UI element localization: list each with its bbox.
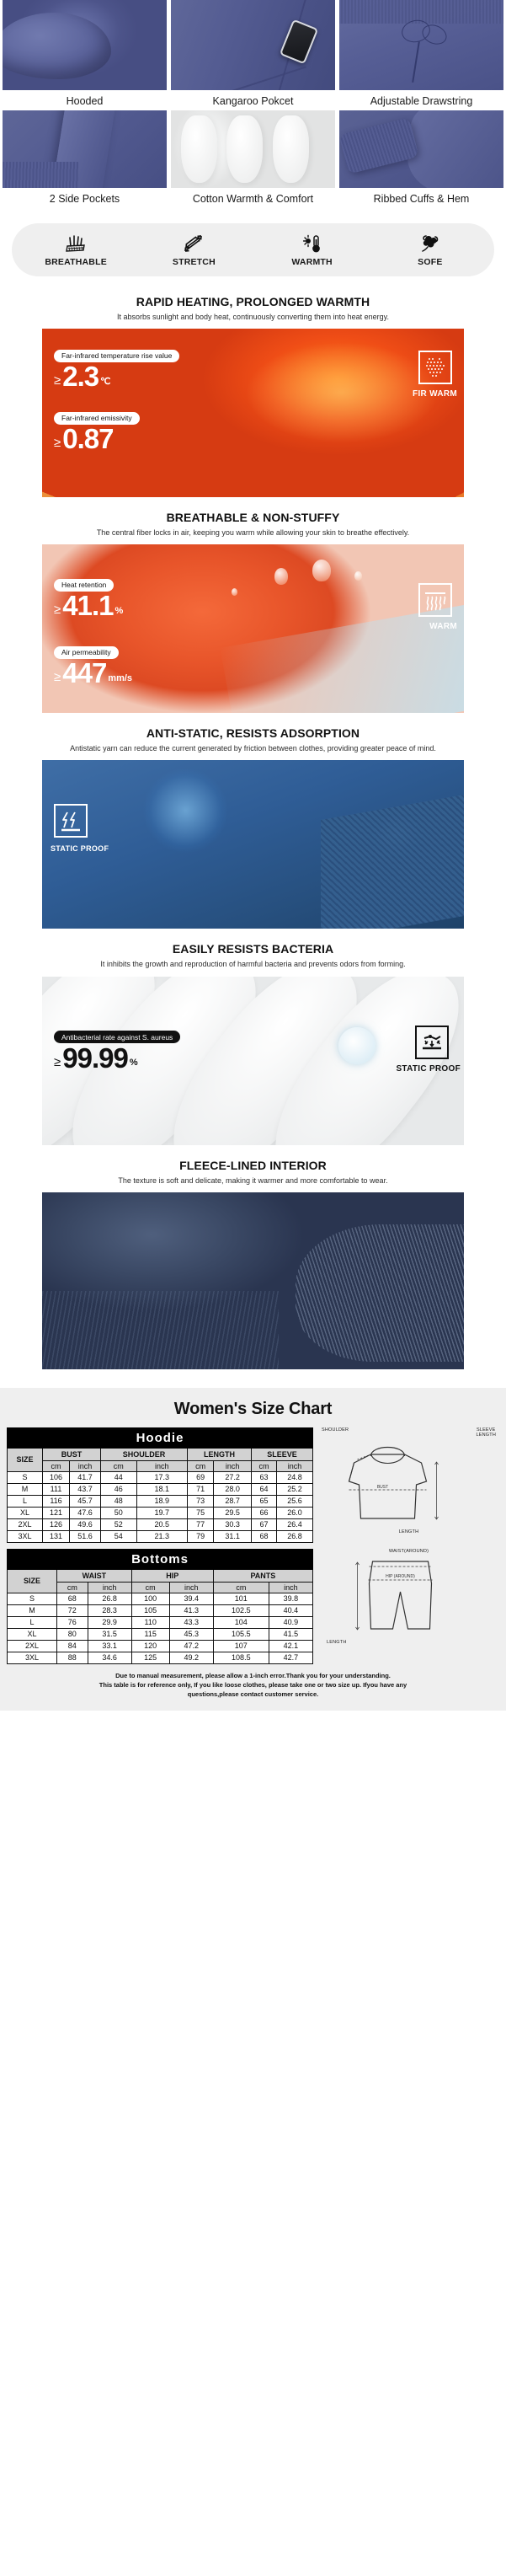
gte-symbol: ≥	[54, 375, 61, 389]
stat-label: Antibacterial rate against S. aureus	[54, 1031, 180, 1043]
unit-header: inch	[70, 1460, 101, 1471]
fleece-interior-photo	[42, 1192, 464, 1369]
cell: 42.7	[269, 1652, 312, 1663]
cotton-fleece-photo	[171, 110, 335, 188]
table-row: M 72 28.3 105 41.3 102.5 40.4	[8, 1604, 313, 1616]
feature-caption: Adjustable Drawstring	[339, 90, 503, 110]
unit-header: inch	[169, 1582, 213, 1593]
unit-header: cm	[101, 1460, 136, 1471]
figure-label-length: LENGTH	[399, 1529, 419, 1534]
cell: 77	[188, 1518, 214, 1530]
section-fleece-lined: FLEECE-LINED INTERIOR The texture is sof…	[0, 1145, 506, 1369]
badge-warmth: WARMTH	[253, 233, 371, 267]
bottoms-chart-row: Bottoms SIZE WAIST HIP PANTS cm inch cm …	[0, 1549, 506, 1664]
cotton-boll-icon	[371, 233, 489, 254]
size-column-header: SIZE	[8, 1569, 57, 1593]
gte-symbol: ≥	[54, 437, 61, 452]
row-size: 3XL	[8, 1530, 43, 1542]
row-size: 3XL	[8, 1652, 57, 1663]
cell: 76	[57, 1616, 88, 1628]
cell: 66	[251, 1507, 276, 1518]
cell: 49.6	[70, 1518, 101, 1530]
bottoms-measurement-figure: WAIST(AROUND) HIP (AROUND) LENGTH	[318, 1549, 499, 1645]
group-header-sleeve: SLEEVE	[251, 1448, 312, 1460]
table-row: L 116 45.7 48 18.9 73 28.7 65 25.6	[8, 1495, 313, 1507]
cell: 63	[251, 1471, 276, 1483]
side-pocket-photo	[3, 110, 167, 188]
hoodie-measurement-figure: SHOULDER SLEEVE LENGTH BUST LENGTH	[318, 1427, 499, 1534]
stat-unit: mm/s	[108, 675, 132, 686]
cell: 28.7	[214, 1495, 252, 1507]
cell: 107	[213, 1640, 269, 1652]
cell: 72	[57, 1604, 88, 1616]
cell: 18.1	[136, 1483, 188, 1495]
cell: 49.2	[169, 1652, 213, 1663]
feature-cell-hooded[interactable]: Hooded	[3, 0, 167, 110]
cell: 111	[43, 1483, 70, 1495]
disclaimer-line-2: This table is for reference only, If you…	[22, 1680, 484, 1690]
cell: 26.8	[88, 1593, 131, 1604]
cell: 41.3	[169, 1604, 213, 1616]
feature-cell-drawstring[interactable]: Adjustable Drawstring	[339, 0, 503, 110]
cell: 125	[131, 1652, 169, 1663]
measurement-disclaimer: Due to manual measurement, please allow …	[0, 1664, 506, 1701]
feature-photo-row-2: 2 Side Pockets Cotton Warmth & Comfort R…	[0, 110, 506, 208]
pants-diagram-icon: HIP (AROUND)	[318, 1555, 499, 1636]
unit-header: cm	[43, 1460, 70, 1471]
hood-closeup-photo	[3, 0, 167, 90]
cell: 30.3	[214, 1518, 252, 1530]
cell: 29.9	[88, 1616, 131, 1628]
figure-label-length: LENGTH	[327, 1640, 347, 1645]
group-header-length: LENGTH	[188, 1448, 252, 1460]
cell: 29.5	[214, 1507, 252, 1518]
cell: 64	[251, 1483, 276, 1495]
badge-label: STRETCH	[135, 257, 253, 267]
bottoms-table-wrap: Bottoms SIZE WAIST HIP PANTS cm inch cm …	[7, 1549, 313, 1664]
unit-header: inch	[277, 1460, 313, 1471]
svg-text:BUST: BUST	[377, 1485, 388, 1490]
cell: 110	[131, 1616, 169, 1628]
heat-waves-icon	[418, 583, 452, 617]
cell: 48	[101, 1495, 136, 1507]
anti-static-discharge-icon	[415, 1026, 449, 1059]
table-row: L 76 29.9 110 43.3 104 40.9	[8, 1616, 313, 1628]
cell: 47.6	[70, 1507, 101, 1518]
cell: 65	[251, 1495, 276, 1507]
stat-value-row: ≥ 447 mm/s	[54, 661, 132, 686]
cell: 31.1	[214, 1530, 252, 1542]
table-row: S 106 41.7 44 17.3 69 27.2 63 24.8	[8, 1471, 313, 1483]
size-chart-section: Women's Size Chart Hoodie SIZE BUST SHOU…	[0, 1388, 506, 1711]
badge-label: SOFE	[371, 257, 489, 267]
row-size: L	[8, 1495, 43, 1507]
cell: 43.7	[70, 1483, 101, 1495]
cell: 26.4	[277, 1518, 313, 1530]
cell: 106	[43, 1471, 70, 1483]
breathable-fabric-icon	[17, 233, 135, 254]
cell: 126	[43, 1518, 70, 1530]
stat-value-row: ≥ 99.99 %	[54, 1046, 180, 1071]
badge-stretch: STRETCH	[135, 233, 253, 267]
unit-header: inch	[269, 1582, 312, 1593]
stat-number: 0.87	[62, 426, 113, 452]
unit-header: inch	[214, 1460, 252, 1471]
figure-label-sleeve-length: SLEEVE LENGTH	[476, 1427, 496, 1438]
bacteria-illustration	[338, 1027, 376, 1064]
row-size: XL	[8, 1628, 57, 1640]
cell: 40.9	[269, 1616, 312, 1628]
cell: 41.7	[70, 1471, 101, 1483]
cell: 104	[213, 1616, 269, 1628]
cell: 101	[213, 1593, 269, 1604]
section-title: EASILY RESISTS BACTERIA	[0, 942, 506, 956]
section-title: ANTI-STATIC, RESISTS ADSORPTION	[0, 726, 506, 740]
cell: 19.7	[136, 1507, 188, 1518]
gte-symbol: ≥	[54, 672, 61, 686]
section-rapid-heating: RAPID HEATING, PROLONGED WARMTH It absor…	[0, 281, 506, 497]
group-header-waist: WAIST	[57, 1569, 132, 1582]
cell: 52	[101, 1518, 136, 1530]
cell: 34.6	[88, 1652, 131, 1663]
feature-caption: Cotton Warmth & Comfort	[171, 188, 335, 208]
hoodie-table-wrap: Hoodie SIZE BUST SHOULDER LENGTH SLEEVE …	[7, 1427, 313, 1543]
cell: 131	[43, 1530, 70, 1542]
cell: 26.8	[277, 1530, 313, 1542]
feature-cell-kangaroo-pocket[interactable]: Kangaroo Pokcet	[171, 0, 335, 110]
cell: 84	[57, 1640, 88, 1652]
section-subtitle: Antistatic yarn can reduce the current g…	[0, 743, 506, 753]
badge-label: WARMTH	[253, 257, 371, 267]
feature-caption: Kangaroo Pokcet	[171, 90, 335, 110]
group-header-pants: PANTS	[213, 1569, 312, 1582]
breathable-fiber-photo: Heat retention ≥ 41.1 % Air permeability…	[42, 544, 464, 713]
cell: 71	[188, 1483, 214, 1495]
cell: 44	[101, 1471, 136, 1483]
cell: 43.3	[169, 1616, 213, 1628]
hoodie-chart-row: Hoodie SIZE BUST SHOULDER LENGTH SLEEVE …	[0, 1427, 506, 1543]
cell: 75	[188, 1507, 214, 1518]
cell: 67	[251, 1518, 276, 1530]
table-row: 3XL 131 51.6 54 21.3 79 31.1 68 26.8	[8, 1530, 313, 1542]
section-resists-bacteria: EASILY RESISTS BACTERIA It inhibits the …	[0, 929, 506, 1144]
badge-label: BREATHABLE	[17, 257, 135, 267]
badge-caption: WARM	[429, 622, 457, 631]
section-title: FLEECE-LINED INTERIOR	[0, 1159, 506, 1172]
section-subtitle: The central fiber locks in air, keeping …	[0, 528, 506, 538]
table-row: 2XL 126 49.6 52 20.5 77 30.3 67 26.4	[8, 1518, 313, 1530]
stat-value-row: ≥ 0.87	[54, 426, 140, 452]
table-row: 3XL 88 34.6 125 49.2 108.5 42.7	[8, 1652, 313, 1663]
cell: 102.5	[213, 1604, 269, 1616]
badge-caption: STATIC PROOF	[51, 844, 109, 853]
table-row: S 68 26.8 100 39.4 101 39.8	[8, 1593, 313, 1604]
figure-label-shoulder: SHOULDER	[322, 1427, 349, 1438]
stat-unit: %	[130, 1059, 138, 1070]
row-size: S	[8, 1593, 57, 1604]
static-bolt-icon	[54, 804, 88, 838]
stat-value-row: ≥ 41.1 %	[54, 593, 123, 619]
gte-symbol: ≥	[54, 604, 61, 619]
unit-header: cm	[131, 1582, 169, 1593]
cell: 105	[131, 1604, 169, 1616]
stat-number: 2.3	[62, 364, 99, 389]
feature-caption: 2 Side Pockets	[3, 188, 167, 208]
cell: 25.2	[277, 1483, 313, 1495]
cell: 39.4	[169, 1593, 213, 1604]
hoodie-size-table: Hoodie SIZE BUST SHOULDER LENGTH SLEEVE …	[7, 1427, 313, 1543]
table-row: M 111 43.7 46 18.1 71 28.0 64 25.2	[8, 1483, 313, 1495]
cell: 54	[101, 1530, 136, 1542]
hoodie-diagram-icon: BUST	[318, 1438, 499, 1525]
cell: 68	[251, 1530, 276, 1542]
section-breathable: BREATHABLE & NON-STUFFY The central fibe…	[0, 497, 506, 713]
section-title: RAPID HEATING, PROLONGED WARMTH	[0, 295, 506, 308]
ribbed-cuff-photo	[339, 110, 503, 188]
section-subtitle: The texture is soft and delicate, making…	[0, 1176, 506, 1186]
cell: 105.5	[213, 1628, 269, 1640]
unit-header: inch	[88, 1582, 131, 1593]
cell: 108.5	[213, 1652, 269, 1663]
section-subtitle: It absorbs sunlight and body heat, conti…	[0, 312, 506, 322]
cell: 46	[101, 1483, 136, 1495]
unit-header: cm	[251, 1460, 276, 1471]
cell: 33.1	[88, 1640, 131, 1652]
cell: 73	[188, 1495, 214, 1507]
cell: 45.7	[70, 1495, 101, 1507]
section-anti-static: ANTI-STATIC, RESISTS ADSORPTION Antistat…	[0, 713, 506, 929]
cell: 21.3	[136, 1530, 188, 1542]
bottoms-size-table: Bottoms SIZE WAIST HIP PANTS cm inch cm …	[7, 1549, 313, 1664]
anti-static-photo: STATIC PROOF	[42, 760, 464, 929]
row-size: S	[8, 1471, 43, 1483]
size-column-header: SIZE	[8, 1448, 43, 1471]
feature-caption: Hooded	[3, 90, 167, 110]
row-size: M	[8, 1604, 57, 1616]
group-header-shoulder: SHOULDER	[101, 1448, 188, 1460]
table-row: 2XL 84 33.1 120 47.2 107 42.1	[8, 1640, 313, 1652]
cell: 20.5	[136, 1518, 188, 1530]
cell: 28.3	[88, 1604, 131, 1616]
thermometer-sun-icon	[253, 233, 371, 254]
cell: 120	[131, 1640, 169, 1652]
table-name: Bottoms	[8, 1549, 313, 1569]
row-size: L	[8, 1616, 57, 1628]
feature-photo-row-1: Hooded Kangaroo Pokcet Adjustable Drawst…	[0, 0, 506, 110]
product-detail-page: Hooded Kangaroo Pokcet Adjustable Drawst…	[0, 0, 506, 1711]
fir-dots-icon	[418, 351, 452, 384]
row-size: XL	[8, 1507, 43, 1518]
disclaimer-line-1: Due to manual measurement, please allow …	[22, 1671, 484, 1680]
antibacterial-knit-photo: Antibacterial rate against S. aureus ≥ 9…	[42, 977, 464, 1145]
cell: 25.6	[277, 1495, 313, 1507]
row-size: M	[8, 1483, 43, 1495]
cell: 26.0	[277, 1507, 313, 1518]
row-size: 2XL	[8, 1640, 57, 1652]
feature-cell-cotton-warmth[interactable]: Cotton Warmth & Comfort	[171, 110, 335, 208]
stat-unit: ℃	[100, 378, 110, 389]
section-subtitle: It inhibits the growth and reproduction …	[0, 959, 506, 969]
unit-header: cm	[188, 1460, 214, 1471]
figure-label-waist: WAIST(AROUND)	[318, 1549, 499, 1555]
group-header-hip: HIP	[131, 1569, 213, 1582]
section-title: BREATHABLE & NON-STUFFY	[0, 511, 506, 524]
stat-number: 447	[62, 661, 106, 686]
cell: 45.3	[169, 1628, 213, 1640]
table-row: XL 121 47.6 50 19.7 75 29.5 66 26.0	[8, 1507, 313, 1518]
kangaroo-pocket-photo	[171, 0, 335, 90]
cell: 121	[43, 1507, 70, 1518]
badge-sofe: SOFE	[371, 233, 489, 267]
cell: 79	[188, 1530, 214, 1542]
group-header-bust: BUST	[43, 1448, 101, 1460]
cell: 42.1	[269, 1640, 312, 1652]
unit-header: inch	[136, 1460, 188, 1471]
stretch-arrows-icon	[135, 233, 253, 254]
gte-symbol: ≥	[54, 1057, 61, 1071]
row-size: 2XL	[8, 1518, 43, 1530]
cell: 24.8	[277, 1471, 313, 1483]
cell: 41.5	[269, 1628, 312, 1640]
cell: 100	[131, 1593, 169, 1604]
unit-header: cm	[57, 1582, 88, 1593]
badge-caption: FIR WARM	[413, 389, 457, 399]
cell: 31.5	[88, 1628, 131, 1640]
cell: 51.6	[70, 1530, 101, 1542]
cell: 39.8	[269, 1593, 312, 1604]
feature-caption: Ribbed Cuffs & Hem	[339, 188, 503, 208]
cell: 28.0	[214, 1483, 252, 1495]
cell: 68	[57, 1593, 88, 1604]
far-infrared-fiber-photo: Far-infrared temperature rise value ≥ 2.…	[42, 329, 464, 497]
feature-cell-ribbed-cuffs[interactable]: Ribbed Cuffs & Hem	[339, 110, 503, 208]
cell: 116	[43, 1495, 70, 1507]
fabric-property-badge-strip: BREATHABLE STRETCH	[12, 223, 494, 276]
stat-value-row: ≥ 2.3 ℃	[54, 364, 179, 389]
cell: 50	[101, 1507, 136, 1518]
badge-caption: STATIC PROOF	[396, 1064, 461, 1074]
cell: 18.9	[136, 1495, 188, 1507]
table-name: Hoodie	[8, 1427, 313, 1448]
cell: 69	[188, 1471, 214, 1483]
size-chart-title: Women's Size Chart	[0, 1400, 506, 1419]
cell: 17.3	[136, 1471, 188, 1483]
svg-text:HIP (AROUND): HIP (AROUND)	[386, 1574, 415, 1579]
cell: 80	[57, 1628, 88, 1640]
badge-breathable: BREATHABLE	[17, 233, 135, 267]
stat-number: 41.1	[62, 593, 113, 619]
cell: 27.2	[214, 1471, 252, 1483]
unit-header: cm	[213, 1582, 269, 1593]
stat-unit: %	[115, 608, 123, 619]
disclaimer-line-3: questions,please contact customer servic…	[22, 1690, 484, 1699]
cell: 40.4	[269, 1604, 312, 1616]
phone-in-pocket	[279, 19, 318, 64]
drawstring-photo	[339, 0, 503, 90]
stat-number: 99.99	[62, 1046, 128, 1071]
cell: 115	[131, 1628, 169, 1640]
cell: 88	[57, 1652, 88, 1663]
cell: 47.2	[169, 1640, 213, 1652]
table-row: XL 80 31.5 115 45.3 105.5 41.5	[8, 1628, 313, 1640]
feature-cell-side-pockets[interactable]: 2 Side Pockets	[3, 110, 167, 208]
